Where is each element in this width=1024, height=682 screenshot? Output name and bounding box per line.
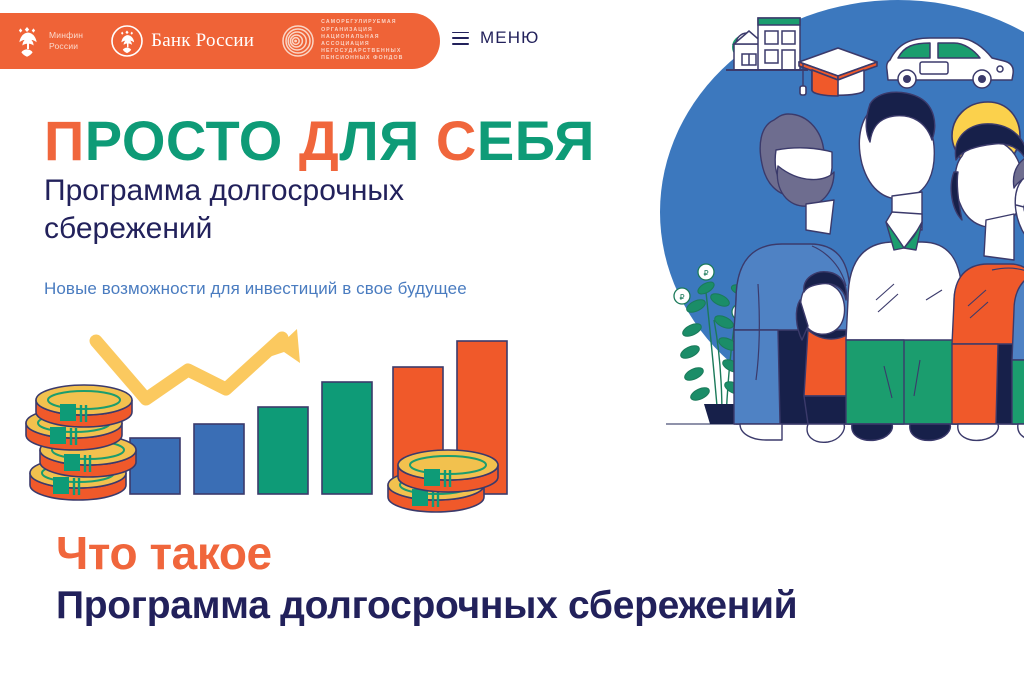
concentric-spiral-emblem-icon bbox=[282, 25, 314, 57]
svg-text:₽: ₽ bbox=[679, 293, 684, 302]
bar-2 bbox=[194, 424, 244, 494]
headline-part-4: ЛЯ bbox=[339, 109, 420, 172]
page-tagline: Новые возможности для инвестиций в свое … bbox=[44, 279, 467, 299]
headline-part-5: С bbox=[436, 109, 477, 172]
logo-napf-label: САМОРЕГУЛИРУЕМАЯ ОРГАНИЗАЦИЯ НАЦИОНАЛЬНА… bbox=[321, 19, 412, 62]
logo-minfin-label: Минфин России bbox=[49, 30, 83, 52]
headline-part-1: П bbox=[44, 109, 85, 172]
main-menu-button[interactable]: МЕНЮ bbox=[452, 28, 539, 48]
logo-bank-rossii[interactable]: Банк России bbox=[111, 25, 254, 57]
main-menu-label: МЕНЮ bbox=[480, 28, 539, 48]
logo-bank-rossii-label: Банк России bbox=[151, 30, 254, 52]
headline-part-6: ЕБЯ bbox=[477, 109, 595, 172]
hamburger-menu-icon[interactable] bbox=[452, 32, 469, 45]
bar-4 bbox=[322, 382, 372, 494]
section-kicker: Что такое bbox=[56, 527, 272, 579]
page-subtitle: Программа долгосрочных сбережений bbox=[44, 172, 484, 248]
bar-1 bbox=[130, 438, 180, 494]
bar-3 bbox=[258, 407, 308, 494]
page-headline: ПРОСТО ДЛЯ СЕБЯ bbox=[44, 112, 595, 170]
logo-napf[interactable]: САМОРЕГУЛИРУЕМАЯ ОРГАНИЗАЦИЯ НАЦИОНАЛЬНА… bbox=[282, 19, 412, 62]
headline-part-2: РОСТО bbox=[85, 109, 283, 172]
eagle-in-circle-emblem-icon bbox=[111, 25, 143, 57]
svg-text:₽: ₽ bbox=[703, 269, 708, 278]
savings-growth-chart-illustration bbox=[8, 325, 568, 525]
double-headed-eagle-emblem-icon bbox=[12, 25, 42, 57]
partner-logo-bar: Минфин России Банк России bbox=[0, 13, 440, 69]
landing-page: ₽ ₽ ₽ bbox=[0, 0, 1024, 682]
coin-stack-right bbox=[388, 450, 498, 512]
growth-arrow-icon bbox=[96, 329, 300, 399]
logo-minfin[interactable]: Минфин России bbox=[12, 25, 83, 57]
house-icon bbox=[726, 18, 808, 70]
coin-stack-left bbox=[26, 385, 136, 500]
section-title: Программа долгосрочных сбережений bbox=[56, 583, 797, 629]
hero-illustration: ₽ ₽ ₽ bbox=[648, 0, 1024, 470]
headline-part-3: Д bbox=[299, 109, 339, 172]
